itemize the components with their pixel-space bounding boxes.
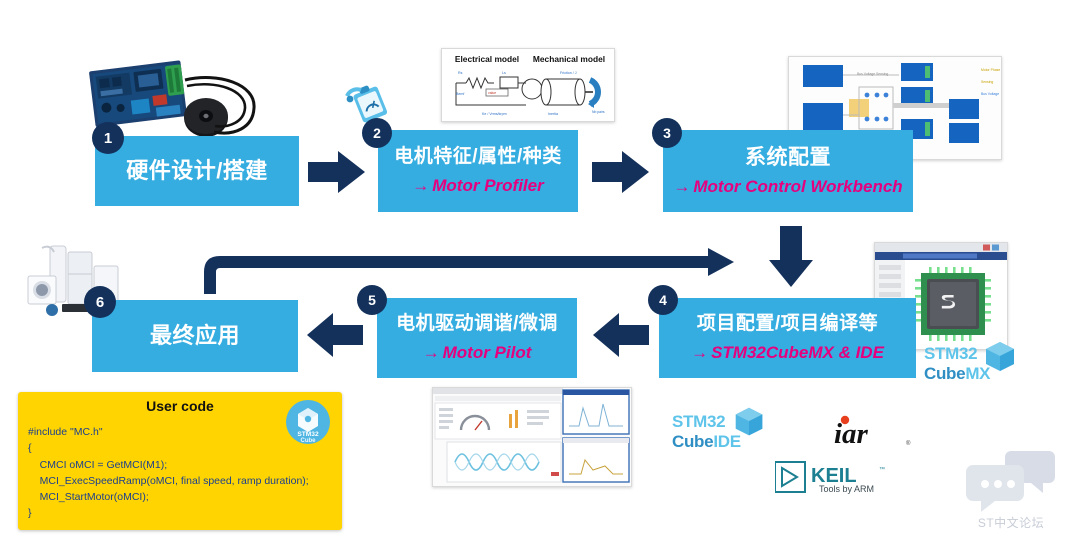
motor-model-screenshot: Electrical model Mechanical model Rs Ls … xyxy=(441,48,615,122)
keil-logo: KEIL ™ Tools by ARM xyxy=(775,460,895,496)
step-box-4[interactable]: 项目配置/项目编译等 →STM32CubeMX & IDE xyxy=(659,298,916,378)
cube-3d-icon xyxy=(730,404,768,442)
flow-arrow-4-to-5 xyxy=(592,312,650,358)
cubeide-logo-line2a: Cube xyxy=(672,432,713,451)
step-number-2: 2 xyxy=(373,125,381,141)
cubemx-logo-line1: STM32 xyxy=(924,344,977,363)
step-tool-2: →Motor Profiler xyxy=(412,177,543,196)
step-tool-label-2: Motor Profiler xyxy=(432,176,543,195)
stm32cubeide-logo: STM32 CubeIDE xyxy=(672,412,782,460)
step-box-2[interactable]: 电机特征/属性/种类 →Motor Profiler xyxy=(378,130,578,212)
step-tool-5: →Motor Pilot xyxy=(423,344,532,363)
motor-pilot-screenshot xyxy=(432,387,632,487)
cube-3d-icon xyxy=(980,338,1020,378)
step-number-1: 1 xyxy=(104,130,112,147)
svg-text:value: value xyxy=(488,91,496,95)
step-badge-1: 1 xyxy=(92,122,124,154)
arrow-glyph: → xyxy=(423,343,440,362)
user-code-panel: User code #include "MC.h" { CMCI oMCI = … xyxy=(18,392,342,530)
cubemx-logo-line2a: Cube xyxy=(924,364,965,383)
svg-text:Electrical model: Electrical model xyxy=(455,54,519,64)
step-badge-6: 6 xyxy=(84,286,116,318)
step-title-6: 最终应用 xyxy=(150,324,240,348)
flow-arrow-3-to-4 xyxy=(766,226,816,288)
step-number-6: 6 xyxy=(96,294,104,311)
arrow-glyph: → xyxy=(673,177,690,196)
stm32-badge-top: STM32 xyxy=(297,431,319,438)
step-title-3: 系统配置 xyxy=(745,146,831,169)
svg-text:®: ® xyxy=(906,440,911,447)
step-title-4: 项目配置/项目编译等 xyxy=(697,314,878,335)
step-title-5: 电机驱动调谐/微调 xyxy=(396,314,558,335)
stm32-badge-bottom: Cube xyxy=(301,438,317,444)
svg-text:Bus Voltage: Bus Voltage xyxy=(981,92,999,96)
svg-text:Bemf: Bemf xyxy=(456,92,464,96)
step-box-5[interactable]: 电机驱动调谐/微调 →Motor Pilot xyxy=(377,298,577,378)
step-title-2: 电机特征/属性/种类 xyxy=(394,147,562,168)
stm32cube-badge-icon: STM32 Cube xyxy=(286,400,330,444)
svg-text:Bus Voltage Sensing: Bus Voltage Sensing xyxy=(857,72,888,76)
svg-text:Inertia: Inertia xyxy=(548,112,558,116)
cubeide-logo-line1: STM32 xyxy=(672,412,725,431)
step-tool-3: →Motor Control Workbench xyxy=(673,178,902,197)
step-badge-2: 2 xyxy=(362,118,392,148)
step-badge-5: 5 xyxy=(357,285,387,315)
flow-arrow-1-to-2 xyxy=(308,150,366,194)
step-badge-4: 4 xyxy=(648,285,678,315)
svg-text:Ls: Ls xyxy=(502,71,506,75)
step-number-5: 5 xyxy=(368,292,376,308)
svg-text:Rs: Rs xyxy=(458,71,463,75)
step-number-3: 3 xyxy=(663,125,671,141)
svg-text:Mechanical model: Mechanical model xyxy=(533,54,605,64)
svg-text:Sensing: Sensing xyxy=(981,80,993,84)
step-number-4: 4 xyxy=(659,292,667,308)
step-tool-label-3: Motor Control Workbench xyxy=(693,177,902,196)
flow-arrow-2-to-3 xyxy=(592,150,650,194)
stm32cubemx-logo: STM32 CubeMX xyxy=(924,344,1020,392)
step-box-3[interactable]: 系统配置 →Motor Control Workbench xyxy=(663,130,913,212)
step-badge-3: 3 xyxy=(652,118,682,148)
iar-logo-text: iar xyxy=(834,418,869,449)
svg-text:Friction / J: Friction / J xyxy=(560,71,577,75)
step-tool-label-4: STM32CubeMX & IDE xyxy=(711,343,884,362)
step-box-6[interactable]: 最终应用 xyxy=(92,300,298,372)
iar-logo: iar ® xyxy=(832,415,920,449)
diagram-canvas: Electrical model Mechanical model Rs Ls … xyxy=(0,0,1071,537)
watermark: ST中文论坛 xyxy=(959,449,1063,533)
step-box-1[interactable]: 硬件设计/搭建 xyxy=(95,136,299,206)
arrow-glyph: → xyxy=(412,176,429,195)
step-title-1: 硬件设计/搭建 xyxy=(126,159,268,183)
keil-logo-tagline: Tools by ARM xyxy=(819,484,874,494)
svg-text:Ke / Vrms/krpm: Ke / Vrms/krpm xyxy=(482,112,507,116)
svg-text:Motor Phase: Motor Phase xyxy=(981,68,1000,72)
chat-bubbles-icon xyxy=(959,449,1063,515)
step-tool-label-5: Motor Pilot xyxy=(443,343,532,362)
flow-arrow-5-to-6 xyxy=(306,312,364,358)
keil-logo-tm: ™ xyxy=(879,466,885,473)
svg-text:Nb pairs: Nb pairs xyxy=(592,110,605,114)
step-tool-4: →STM32CubeMX & IDE xyxy=(691,344,884,363)
watermark-text: ST中文论坛 xyxy=(959,514,1063,531)
arrow-glyph: → xyxy=(691,343,708,362)
